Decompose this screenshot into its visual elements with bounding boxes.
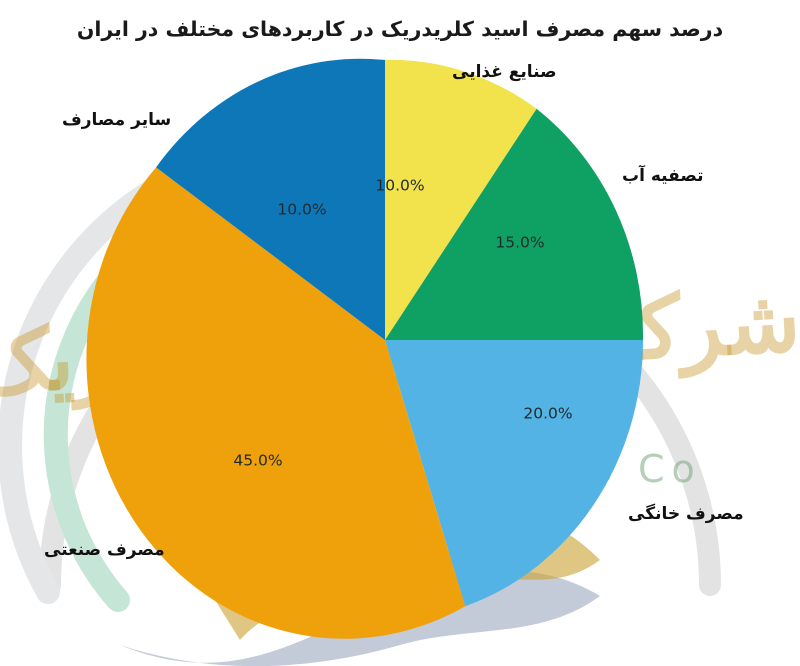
pie-label-other: سایر مصارف	[62, 110, 171, 130]
pie-value-household: 20.0%	[523, 405, 572, 423]
pie-value-water: 15.0%	[495, 234, 544, 252]
pie-label-household: مصرف خانگی	[628, 504, 744, 524]
pie-value-industrial: 45.0%	[233, 452, 282, 470]
chart-page: شرکت صنایع کلریدریک ایران Iran Hcl Indus…	[0, 0, 800, 666]
pie-label-industrial: مصرف صنعتی	[44, 540, 165, 560]
pie-chart: 10.0% 15.0% 20.0% 45.0% 10.0%	[0, 0, 800, 666]
pie-value-food: 10.0%	[375, 177, 424, 195]
pie-label-water: تصفیه آب	[622, 166, 703, 186]
pie-value-other: 10.0%	[277, 201, 326, 219]
pie-label-food: صنایع غذایی	[452, 62, 557, 82]
